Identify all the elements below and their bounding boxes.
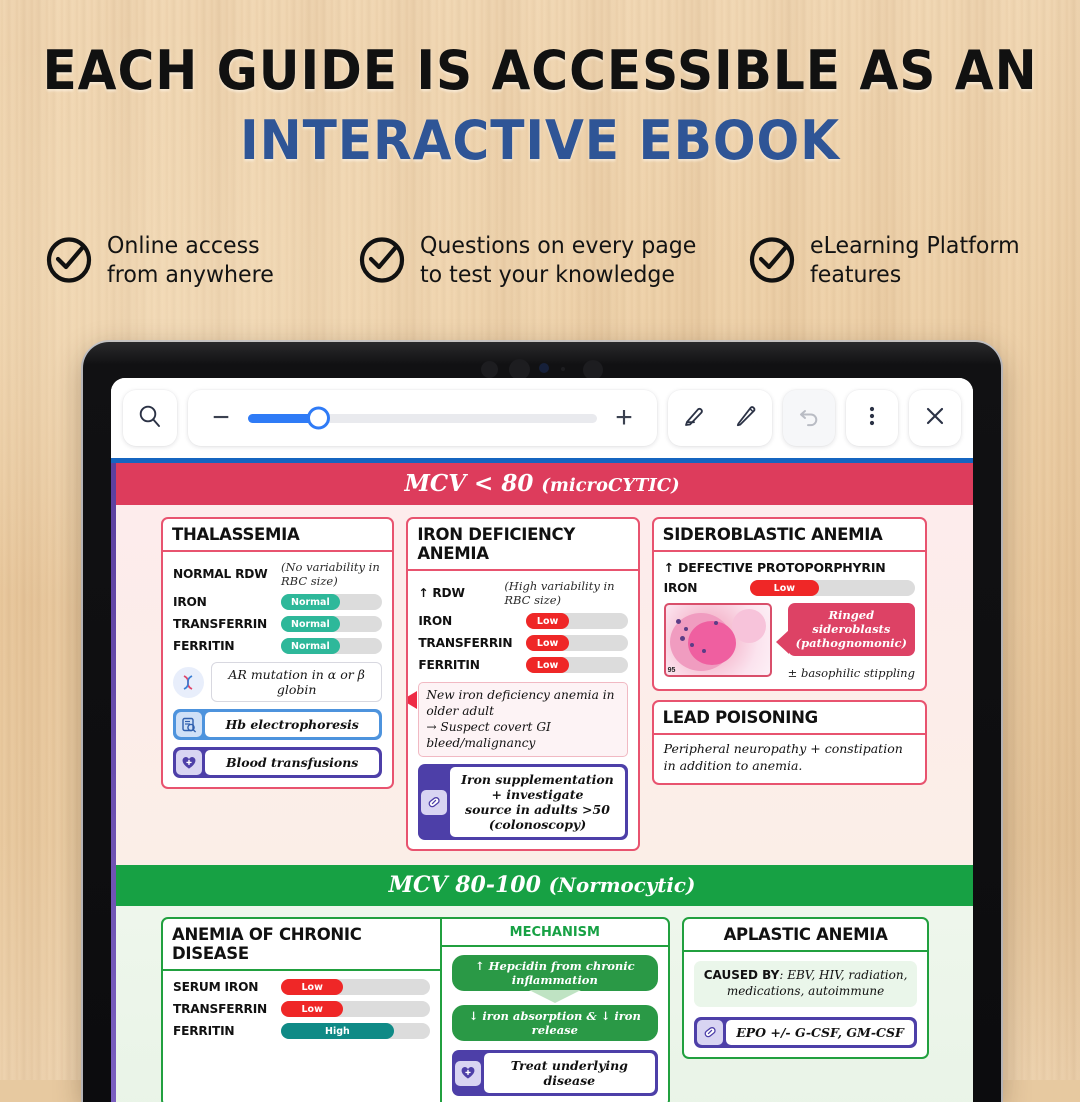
callout-ringed-sideroblasts: Ringed sideroblasts (pathognomonic) ± ba…	[788, 603, 915, 680]
card-title: LEAD POISONING	[654, 702, 925, 735]
card-lead-poisoning: LEAD POISONING Peripheral neuropathy + c…	[652, 700, 927, 785]
callout-arrow-icon	[776, 630, 789, 654]
lab-note: (High variability in RBC size)	[504, 579, 627, 607]
dna-icon	[173, 667, 204, 698]
close-icon	[922, 403, 948, 434]
action-iron-supplementation[interactable]: Iron supplementation + investigate sourc…	[418, 764, 627, 840]
mechanism-step-1: ↑ Hepcidin from chronic inflammation	[452, 955, 659, 991]
zoom-slider[interactable]	[248, 414, 597, 423]
column-sideroblastic-lead: SIDEROBLASTIC ANEMIA ↑ DEFECTIVE PROTOPO…	[652, 517, 927, 785]
lab-label: IRON	[173, 595, 281, 609]
microscopy-image-sideroblast: 95	[664, 603, 772, 677]
tablet-sensor-array	[83, 358, 1001, 380]
section-band-microcytic: MCV < 80 (microCYTIC)	[111, 463, 973, 505]
zoom-out-button[interactable]: −	[208, 403, 234, 433]
zoom-in-button[interactable]: +	[611, 403, 637, 433]
band-title-sub: (Normocytic)	[549, 873, 696, 897]
search-icon	[137, 403, 163, 434]
lab-bar: Low	[526, 635, 627, 651]
action-label: EPO +/- G-CSF, GM-CSF	[726, 1020, 914, 1045]
genetics-row: AR mutation in α or β globin	[173, 662, 382, 702]
callout-sub-note: ± basophilic stippling	[788, 666, 915, 680]
card-title: SIDEROBLASTIC ANEMIA	[654, 519, 925, 552]
feature-item-online-access: Online access from anywhere	[36, 232, 357, 291]
zoom-control[interactable]: − +	[188, 390, 657, 446]
genetics-text: AR mutation in α or β globin	[211, 662, 382, 702]
pen-icon	[733, 402, 760, 434]
lab-bar-value: Low	[526, 635, 569, 651]
lab-label: FERRITIN	[418, 658, 526, 672]
card-title: THALASSEMIA	[163, 519, 392, 552]
action-epo-gcsf[interactable]: EPO +/- G-CSF, GM-CSF	[694, 1017, 917, 1048]
lab-bar-value: High	[281, 1023, 394, 1039]
caused-by-label: CAUSED BY	[704, 968, 780, 982]
lab-row-transferrin: TRANSFERRIN Normal	[173, 616, 382, 632]
clinical-alert: New iron deficiency anemia in older adul…	[418, 682, 627, 757]
feature-item-elearning: eLearning Platform features	[747, 232, 1058, 291]
lab-row-transferrin: TRANSFERRIN Low	[173, 1001, 430, 1017]
lab-test-icon	[176, 712, 202, 737]
action-label: Hb electrophoresis	[205, 712, 379, 737]
lab-bar: Low	[526, 657, 627, 673]
reader-toolbar: − +	[111, 378, 973, 458]
lab-row-ferritin: FERRITIN Normal	[173, 638, 382, 654]
action-hb-electrophoresis[interactable]: Hb electrophoresis	[173, 709, 382, 740]
pill-icon	[421, 790, 447, 815]
card-anemia-chronic-disease: ANEMIA OF CHRONIC DISEASE SERUM IRON Low…	[161, 917, 670, 1102]
section-normocytic: ANEMIA OF CHRONIC DISEASE SERUM IRON Low…	[111, 906, 973, 1102]
lab-bar-value: Low	[750, 580, 819, 596]
zoom-slider-handle[interactable]	[307, 407, 330, 430]
annotation-tools-group	[668, 390, 772, 446]
pill-icon	[697, 1020, 723, 1045]
lab-row-ferritin: FERRITIN Low	[418, 657, 627, 673]
slide-number: 95	[668, 667, 676, 674]
lab-bar: Low	[750, 580, 915, 596]
lab-row-ferritin: FERRITIN High	[173, 1023, 430, 1039]
lab-bar-value: Low	[281, 979, 343, 995]
lab-bar-value: Low	[281, 1001, 343, 1017]
more-vertical-icon	[861, 403, 883, 434]
lab-bar-value: Normal	[281, 616, 340, 632]
lab-bar: Normal	[281, 616, 382, 632]
card-iron-deficiency-anemia: IRON DEFICIENCY ANEMIA ↑ RDW (High varia…	[406, 517, 639, 851]
alert-arrow-icon	[406, 691, 417, 709]
feature-label: eLearning Platform features	[810, 232, 1020, 291]
lab-label: IRON	[664, 581, 750, 595]
alert-text: New iron deficiency anemia in older adul…	[426, 688, 614, 750]
mechanism-title: MECHANISM	[442, 919, 669, 947]
lab-bar: Low	[526, 613, 627, 629]
card-sideroblastic-anemia: SIDEROBLASTIC ANEMIA ↑ DEFECTIVE PROTOPO…	[652, 517, 927, 691]
caused-by-box: CAUSED BY: EBV, HIV, radiation, medicati…	[694, 961, 917, 1006]
more-options-button[interactable]	[846, 390, 898, 446]
lab-label: IRON	[418, 614, 526, 628]
tablet-device: − +	[83, 342, 1001, 1102]
lab-bar-value: Normal	[281, 594, 340, 610]
lab-row-iron: IRON Normal	[173, 594, 382, 610]
feature-list: Online access from anywhere Questions on…	[36, 232, 1058, 291]
band-title-sub: (microCYTIC)	[541, 475, 679, 496]
action-blood-transfusions[interactable]: Blood transfusions	[173, 747, 382, 778]
headline-line-1: EACH GUIDE IS ACCESSIBLE AS AN	[38, 44, 1042, 98]
lab-row-rdw: NORMAL RDW (No variability in RBC size)	[173, 560, 382, 588]
undo-button[interactable]	[783, 390, 835, 446]
card-thalassemia: THALASSEMIA NORMAL RDW (No variability i…	[161, 517, 394, 789]
lab-row-serum-iron: SERUM IRON Low	[173, 979, 430, 995]
funnel-arrow-icon	[529, 990, 581, 1003]
feature-label: Questions on every page to test your kno…	[420, 232, 696, 291]
highlighter-icon	[681, 402, 708, 434]
lab-bar: Normal	[281, 594, 382, 610]
lab-bar-value: Low	[526, 657, 569, 673]
check-circle-icon	[44, 234, 94, 289]
check-circle-icon	[357, 234, 407, 289]
page-scrollbar[interactable]	[111, 463, 116, 1102]
heart-plus-icon	[176, 750, 202, 775]
card-aplastic-anemia: APLASTIC ANEMIA CAUSED BY: EBV, HIV, rad…	[682, 917, 929, 1058]
lab-label: ↑ RDW	[418, 586, 504, 600]
action-label: Iron supplementation + investigate sourc…	[450, 767, 624, 837]
highlighter-button[interactable]	[668, 390, 720, 446]
mechanism-step-2: ↓ iron absorption & ↓ iron release	[452, 1005, 659, 1041]
undo-icon	[796, 403, 822, 434]
lab-bar: Low	[281, 979, 430, 995]
heart-plus-icon	[455, 1061, 481, 1086]
close-button[interactable]	[909, 390, 961, 446]
lab-label: FERRITIN	[173, 639, 281, 653]
lab-label: NORMAL RDW	[173, 567, 281, 581]
card-title: IRON DEFICIENCY ANEMIA	[408, 519, 637, 571]
lab-bar: Normal	[281, 638, 382, 654]
action-label: Treat underlying disease	[484, 1053, 656, 1093]
feature-item-questions: Questions on every page to test your kno…	[357, 232, 746, 291]
headline: EACH GUIDE IS ACCESSIBLE AS AN INTERACTI…	[0, 44, 1080, 168]
lab-note: (No variability in RBC size)	[281, 560, 382, 588]
feature-label: Online access from anywhere	[107, 232, 274, 291]
band-title-main: MCV < 80	[404, 470, 541, 497]
action-label: Blood transfusions	[205, 750, 379, 775]
lab-bar: High	[281, 1023, 430, 1039]
callout-text: Ringed sideroblasts (pathognomonic)	[788, 603, 915, 656]
lab-row-iron: IRON Low	[664, 580, 915, 596]
search-button[interactable]	[123, 390, 177, 446]
card-title: ANEMIA OF CHRONIC DISEASE	[163, 919, 440, 971]
ebook-page: MCV < 80 (microCYTIC) THALASSEMIA NORMAL…	[111, 458, 973, 1102]
card-title: APLASTIC ANEMIA	[684, 919, 927, 952]
lab-row-iron: IRON Low	[418, 613, 627, 629]
band-title-main: MCV 80-100	[389, 872, 549, 898]
lab-label: SERUM IRON	[173, 980, 281, 994]
lab-label: TRANSFERRIN	[173, 617, 281, 631]
pen-button[interactable]	[720, 390, 772, 446]
lab-bar-value: Normal	[281, 638, 340, 654]
lab-row-rdw: ↑ RDW (High variability in RBC size)	[418, 579, 627, 607]
section-band-normocytic: MCV 80-100 (Normocytic)	[111, 865, 973, 906]
section-microcytic: THALASSEMIA NORMAL RDW (No variability i…	[111, 505, 973, 865]
action-treat-underlying-disease[interactable]: Treat underlying disease	[452, 1050, 659, 1096]
headline-line-2: INTERACTIVE EBOOK	[38, 114, 1042, 168]
lab-label: TRANSFERRIN	[418, 636, 526, 650]
lab-row-transferrin: TRANSFERRIN Low	[418, 635, 627, 651]
tablet-screen: − +	[111, 378, 973, 1102]
card-subtitle: ↑ DEFECTIVE PROTOPORPHYRIN	[664, 560, 915, 575]
card-body-text: Peripheral neuropathy + constipation in …	[664, 741, 915, 774]
lab-bar: Low	[281, 1001, 430, 1017]
lab-label: FERRITIN	[173, 1024, 281, 1038]
check-circle-icon	[747, 234, 797, 289]
lab-label: TRANSFERRIN	[173, 1002, 281, 1016]
lab-bar-value: Low	[526, 613, 569, 629]
